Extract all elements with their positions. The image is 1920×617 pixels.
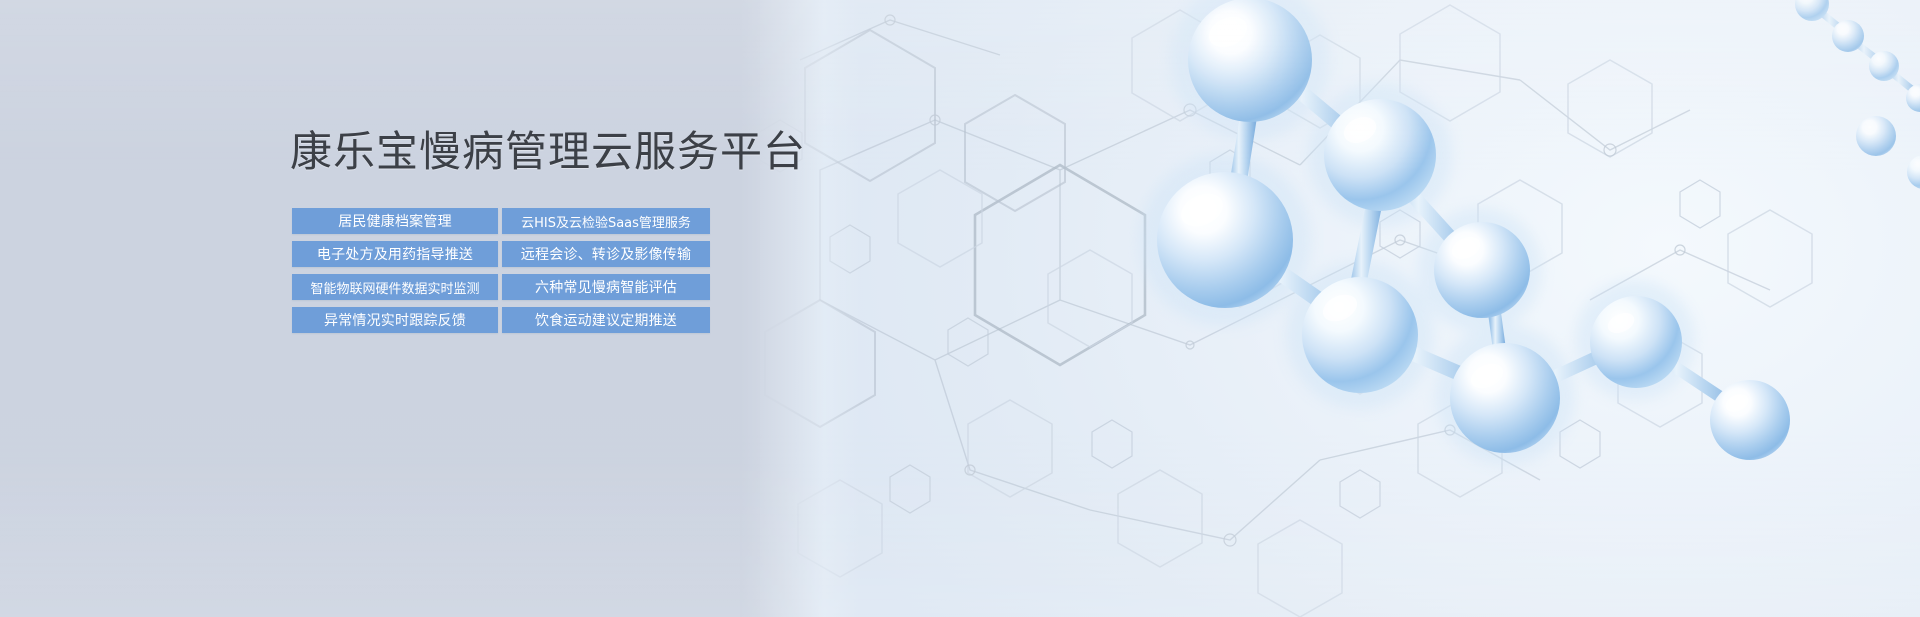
feature-cell[interactable]: 异常情况实时跟踪反馈 [292, 307, 498, 333]
feature-cell[interactable]: 饮食运动建议定期推送 [502, 307, 710, 333]
feature-cell[interactable]: 电子处方及用药指导推送 [292, 241, 498, 267]
feature-cell[interactable]: 智能物联网硬件数据实时监测 [292, 274, 498, 300]
hero-content: 康乐宝慢病管理云服务平台 居民健康档案管理 云HIS及云检验Saas管理服务 电… [0, 0, 800, 617]
feature-cell[interactable]: 云HIS及云检验Saas管理服务 [502, 208, 710, 234]
feature-cell[interactable]: 远程会诊、转诊及影像传输 [502, 241, 710, 267]
feature-cell[interactable]: 六种常见慢病智能评估 [502, 274, 710, 300]
molecule-illustration-icon [1050, 0, 1920, 617]
page-title: 康乐宝慢病管理云服务平台 [290, 118, 806, 179]
feature-cell[interactable]: 居民健康档案管理 [292, 208, 498, 234]
feature-grid: 居民健康档案管理 云HIS及云检验Saas管理服务 电子处方及用药指导推送 远程… [292, 208, 710, 333]
hero-banner: 康乐宝慢病管理云服务平台 居民健康档案管理 云HIS及云检验Saas管理服务 电… [0, 0, 1920, 617]
molecule-sphere-chain [1050, 0, 1920, 617]
